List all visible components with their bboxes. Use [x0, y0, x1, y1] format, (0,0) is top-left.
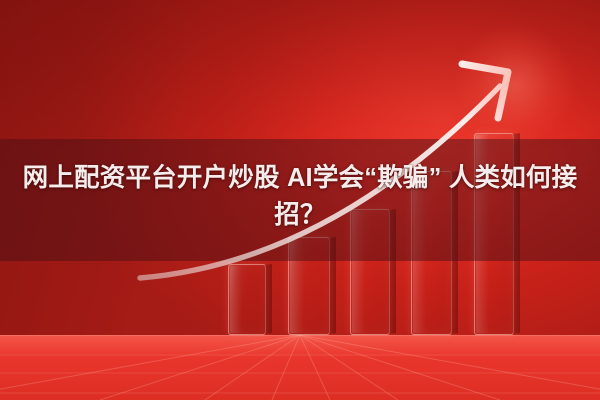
news-thumbnail-image: 网上配资平台开户炒股 AI学会“欺骗” 人类如何接招？: [0, 0, 600, 400]
page-title: 网上配资平台开户炒股 AI学会“欺骗” 人类如何接招？: [8, 160, 592, 234]
bar-highlight: [230, 266, 242, 333]
bar-side-face: [265, 264, 272, 334]
chart-bar-1: [228, 264, 266, 335]
